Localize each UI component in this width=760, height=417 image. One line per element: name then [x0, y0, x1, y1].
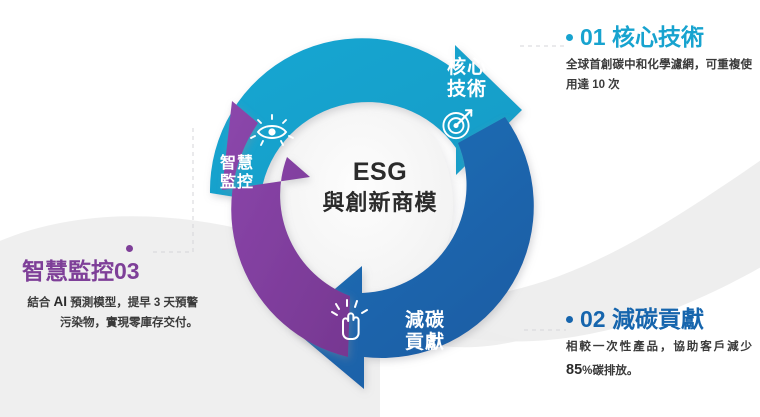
callout-02-title-row: 02 減碳貢獻 — [566, 308, 752, 331]
callout-03-bullet-dot — [126, 245, 133, 252]
callout-03-body-emphasis: AI — [54, 294, 68, 309]
callout-01-bullet-dot — [566, 34, 573, 41]
callout-01-title-row: 01 核心技術 — [566, 26, 752, 49]
callout-02-carbon-reduction: 02 減碳貢獻 相較一次性產品，協助客戶減少85%碳排放。 — [566, 308, 752, 383]
callout-03-smart-monitoring: 智慧監控03 結合 AI 預測模型，提早 3 天預警污染物，實現零庫存交付。 — [22, 240, 198, 334]
callout-01-core-technology: 01 核心技術 全球首創碳中和化學濾網，可重複使用達 10 次 — [566, 26, 752, 96]
infographic-canvas: ESG 與創新商模 核心 技術 減碳 貢獻 智慧 監控 01 核心技術 全球首創… — [0, 0, 760, 417]
callout-02-body-emphasis: 85 — [566, 362, 582, 378]
callout-03-title: 智慧監控03 — [22, 260, 198, 283]
callout-03-body: 結合 AI 預測模型，提早 3 天預警污染物，實現零庫存交付。 — [22, 290, 198, 334]
callout-02-body-post: %碳排放。 — [582, 365, 638, 377]
callout-03-bullet-row — [22, 240, 198, 258]
callout-02-body: 相較一次性產品，協助客戶減少85%碳排放。 — [566, 338, 752, 383]
callout-01-body: 全球首創碳中和化學濾網，可重複使用達 10 次 — [566, 56, 752, 96]
callout-03-body-post: 預測模型，提早 3 天預警污染物，實現零庫存交付。 — [60, 297, 198, 329]
callout-03-body-pre: 結合 — [27, 297, 53, 309]
callout-02-body-pre: 相較一次性產品，協助客戶減少 — [566, 341, 752, 353]
callout-01-title: 01 核心技術 — [580, 26, 704, 49]
callout-02-title: 02 減碳貢獻 — [580, 308, 704, 331]
cycle-diagram — [150, 5, 570, 415]
callout-02-bullet-dot — [566, 316, 573, 323]
